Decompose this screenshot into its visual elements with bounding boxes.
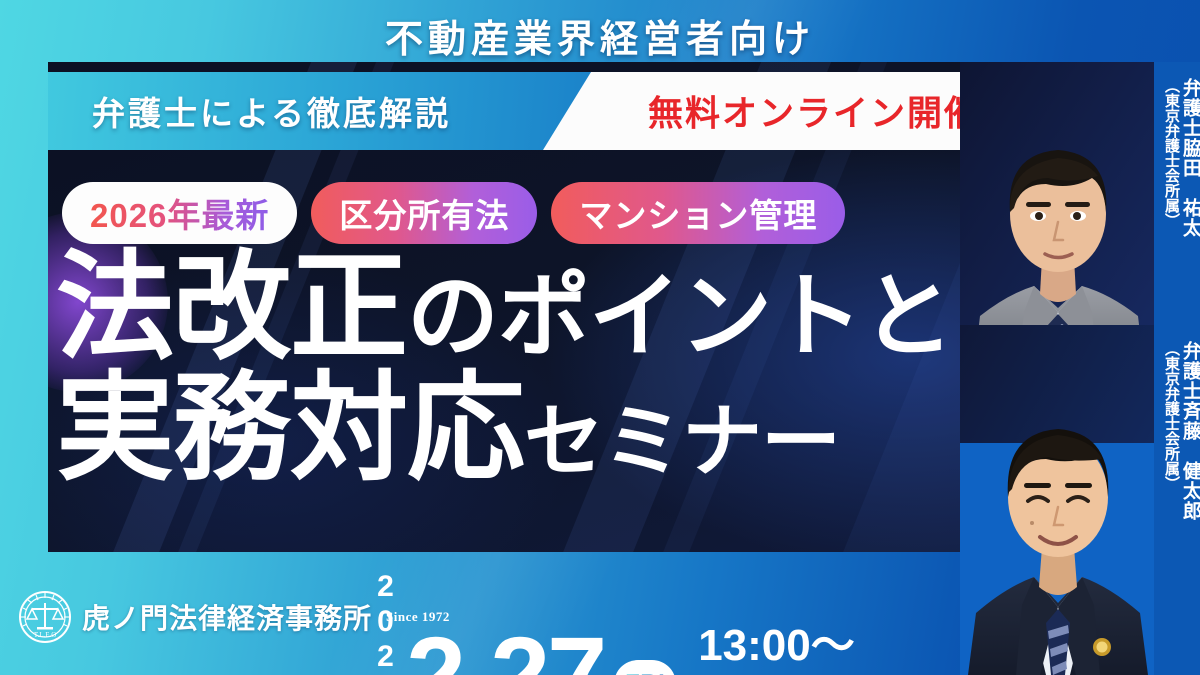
headline-line-1: 法改正 のポイントと (56, 252, 953, 365)
speaker-1-photo (960, 62, 1156, 368)
day-of-week-badge: FRI (614, 660, 676, 675)
event-time-end: 14:00 (698, 670, 855, 675)
top-headline: 不動産業界経営者向け (0, 8, 1200, 63)
headline-line1-main: 法改正 (56, 252, 407, 365)
speaker-1: 弁護士脇田 祐太 （東京弁護士会所属） (952, 62, 1200, 368)
topic-pill-law: 区分所有法 (311, 182, 537, 244)
topic-pill-year-label: 2026年最新 (90, 189, 269, 237)
subtitle-left-text: 弁護士による徹底解説 (92, 87, 451, 135)
headline-line1-tail: のポイントと (407, 273, 953, 361)
main-headline: 法改正 のポイントと 実務対応 セミナー (56, 252, 953, 487)
topic-pill-year: 2026年最新 (62, 182, 297, 244)
speaker-1-affiliation: （東京弁護士会所属） (1164, 78, 1179, 228)
headline-line2-main: 実務対応 (56, 373, 524, 486)
speaker-1-title-name: 弁護士脇田 祐太 (1181, 78, 1200, 238)
speaker-1-name-strip: 弁護士脇田 祐太 （東京弁護士会所属） (1154, 62, 1200, 368)
event-date-block: 2026 2.27 FRI 13:00〜 14:00 (370, 570, 855, 675)
headline-line-2: 実務対応 セミナー (56, 373, 953, 486)
speaker-1-portrait-icon (960, 62, 1156, 368)
scales-of-justice-logo-icon: T.L.E.O (18, 590, 72, 644)
headline-line2-tail: セミナー (524, 404, 840, 481)
event-time-start: 13:00〜 (698, 624, 855, 668)
speaker-2-affiliation: （東京弁護士会所属） (1164, 341, 1179, 491)
event-date: 2.27 (406, 627, 604, 675)
event-time: 13:00〜 14:00 (698, 624, 855, 675)
event-year: 2026 (370, 570, 400, 675)
topic-pill-management: マンション管理 (551, 182, 845, 244)
speaker-2-title-name: 弁護士斉藤 健太郎 (1181, 341, 1200, 521)
firm-name: 虎ノ門法律経済事務所 (82, 597, 372, 637)
day-of-week-label: FRI (625, 670, 665, 675)
topic-pill-group: 2026年最新 区分所有法 マンション管理 (62, 182, 845, 244)
footer-bar: T.L.E.O 虎ノ門法律経済事務所 Since 1972 2026 2.27 … (0, 552, 1200, 675)
seminar-banner: 不動産業界経営者向け 弁護士による徹底解説 無料オンライン開催！ 2026年最新… (0, 0, 1200, 675)
svg-text:T.L.E.O: T.L.E.O (34, 631, 57, 639)
